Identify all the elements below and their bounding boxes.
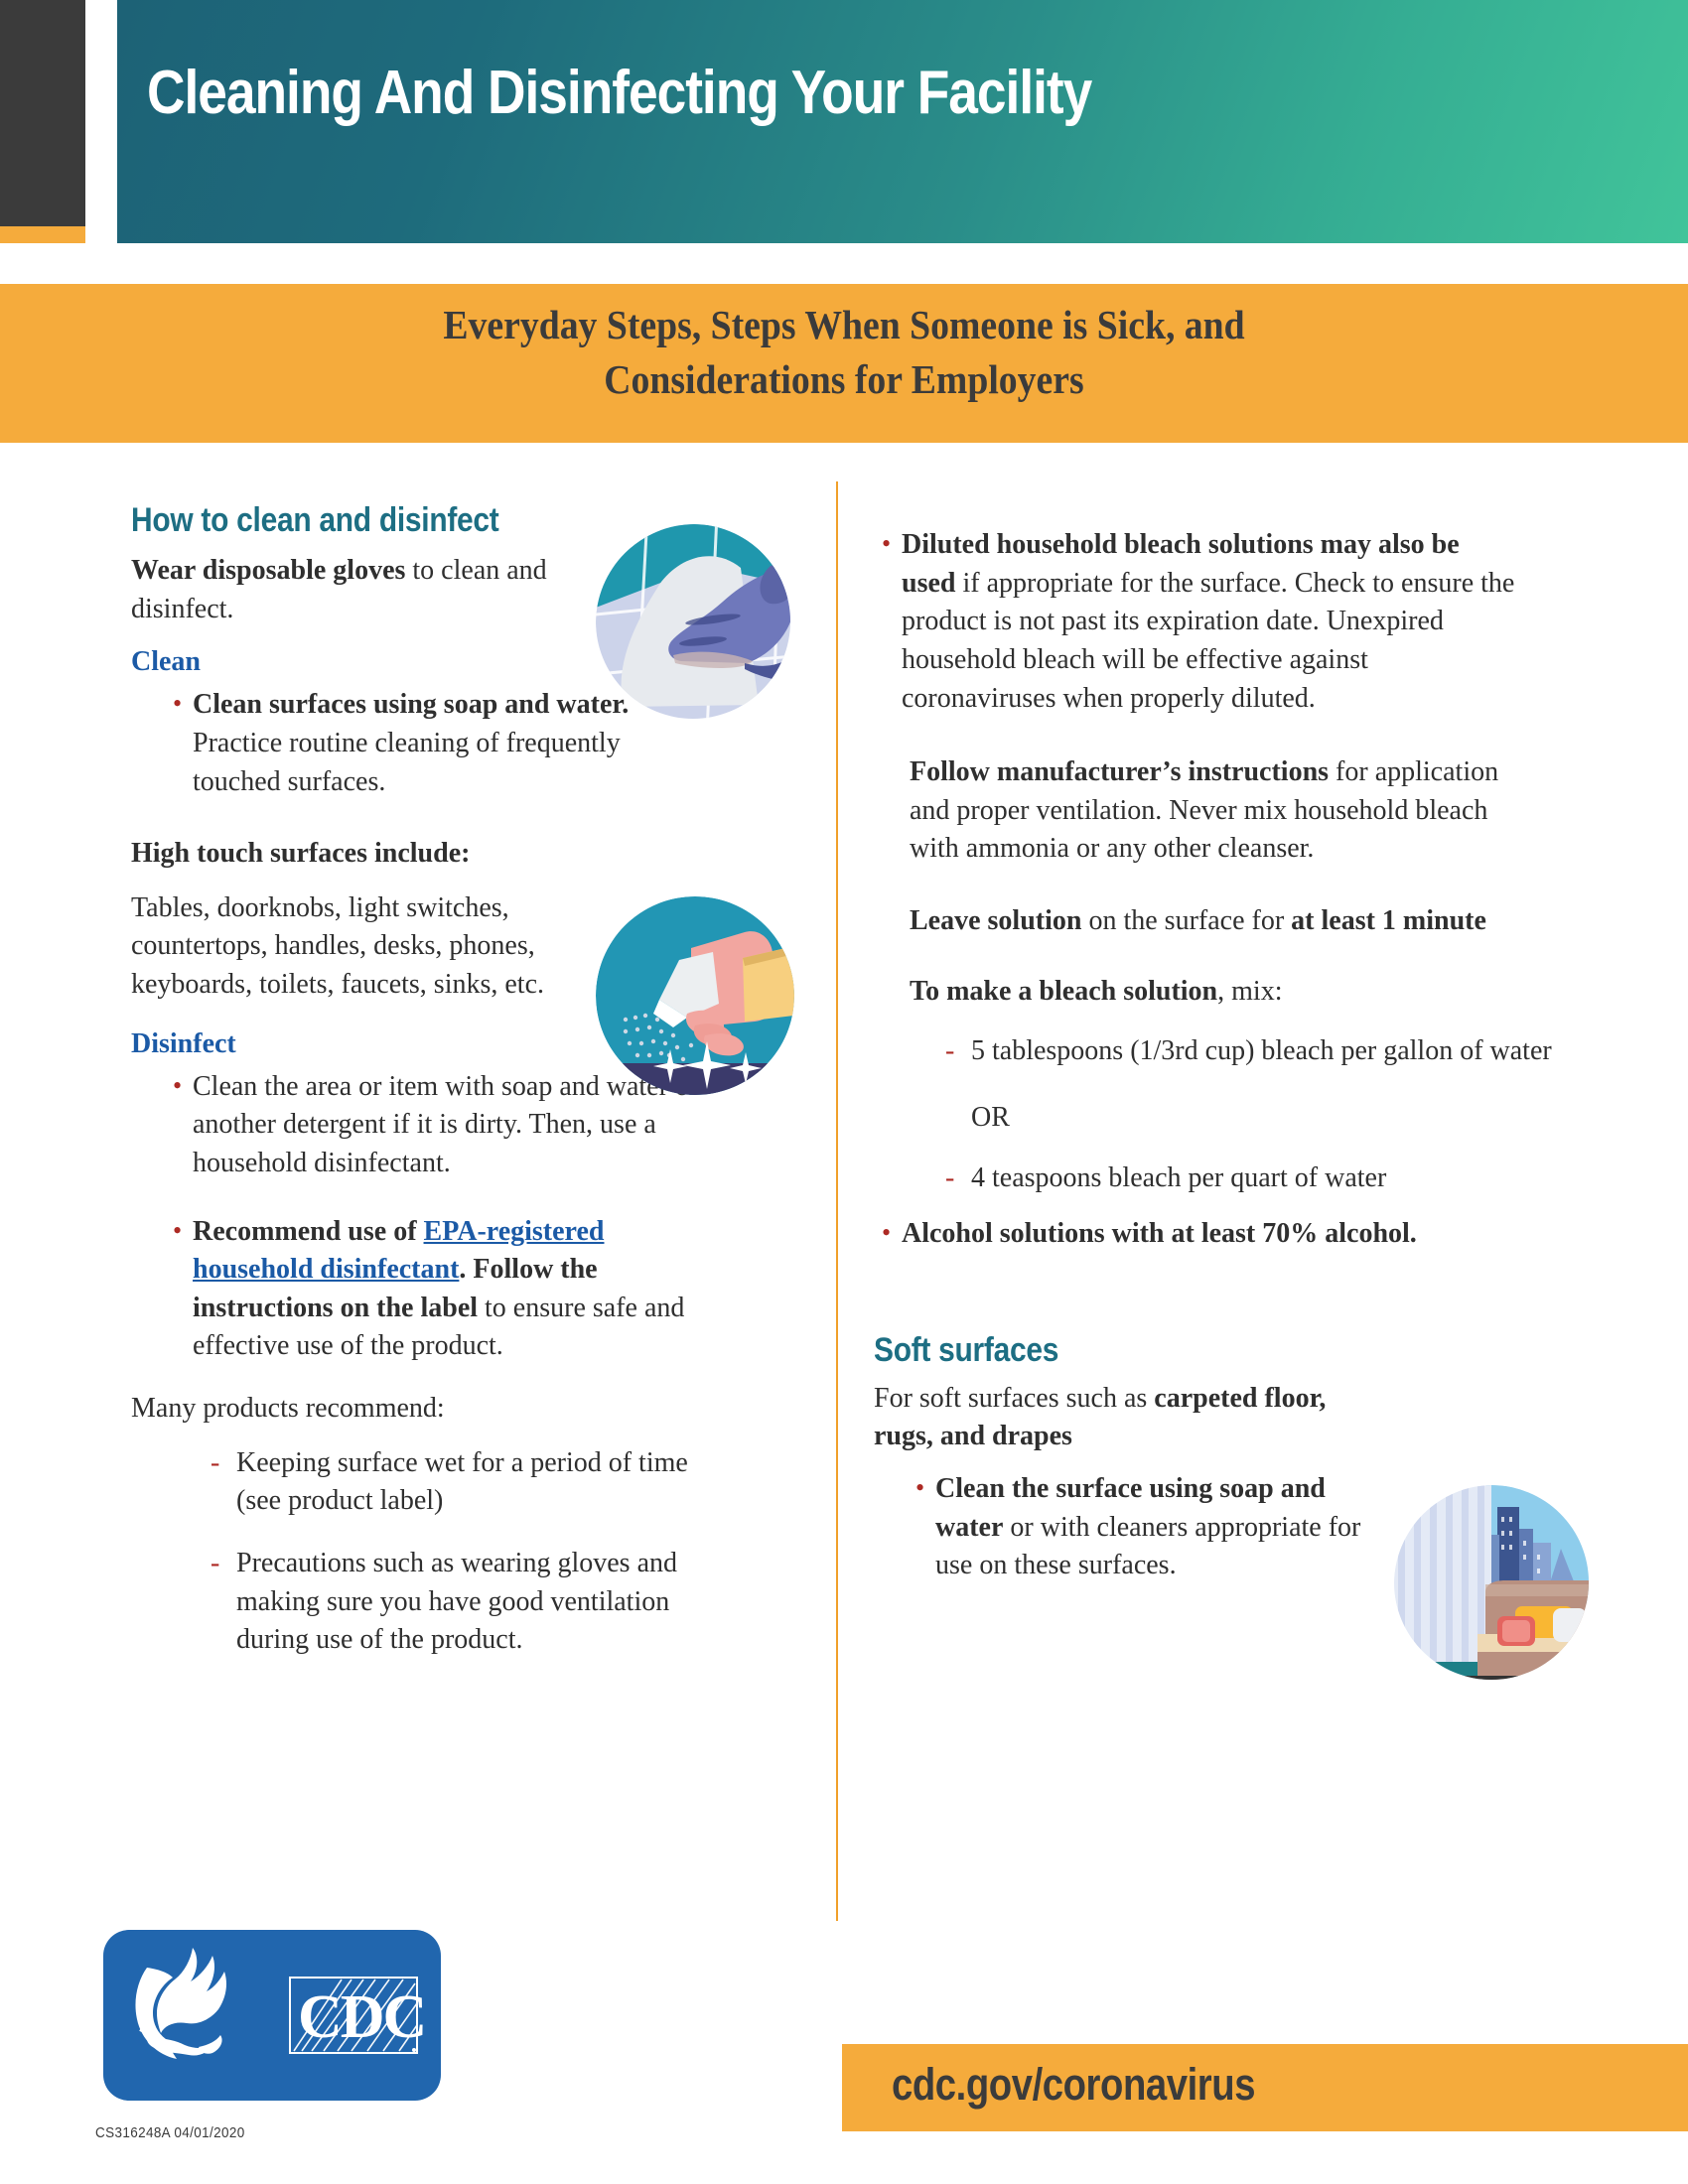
intro-paragraph: Wear disposable gloves to clean and disi… (131, 552, 558, 628)
bullet-alcohol-solutions: • Alcohol solutions with at least 70% al… (874, 1215, 1529, 1254)
many-products-lead: Many products recommend: (131, 1390, 806, 1429)
subtitle-line-1: Everyday Steps, Steps When Someone is Si… (250, 298, 1438, 352)
high-touch-surfaces-body: Tables, doorknobs, light switches, count… (131, 889, 558, 1005)
page-title: Cleaning And Disinfecting Your Facility (147, 58, 1342, 128)
leave-solution-bold-2: at least 1 minute (1291, 905, 1486, 936)
bullet-clean-surfaces-rest: Practice routine cleaning of frequently … (193, 728, 621, 797)
bullet-soft-surfaces-clean: • Clean the surface using soap and water… (908, 1470, 1374, 1585)
bullet-dot-icon: • (165, 1213, 193, 1367)
leave-solution-mid: on the surface for (1081, 905, 1291, 936)
make-solution-bold: To make a bleach solution (910, 976, 1217, 1007)
section-heading-how-to-clean: How to clean and disinfect (131, 501, 725, 540)
dash-marker-blank (945, 1099, 971, 1138)
bullet-clean-surfaces-text: Clean surfaces using soap and water. Pra… (193, 686, 641, 801)
dash-marker-icon: - (945, 1032, 971, 1071)
subtitle-line-2: Considerations for Employers (250, 352, 1438, 407)
bullet-dot-icon: • (908, 1470, 935, 1585)
section-heading-soft-surfaces: Soft surfaces (874, 1331, 1477, 1370)
bullet-dot-icon: • (874, 1215, 902, 1254)
bullet-clean-surfaces: • Clean surfaces using soap and water. P… (165, 686, 641, 801)
dash-marker-icon: - (945, 1160, 971, 1198)
bullet-clean-surfaces-bold: Clean surfaces using soap and water. (193, 689, 629, 720)
bullet-alcohol-solutions-text: Alcohol solutions with at least 70% alco… (902, 1215, 1529, 1254)
soft-surfaces-lead: For soft surfaces such as carpeted floor… (874, 1380, 1370, 1456)
leave-solution-bold-1: Leave solution (910, 905, 1081, 936)
recipe-or-separator: OR (945, 1099, 1581, 1138)
bullet-epa-recommend: • Recommend use of EPA-registered househ… (165, 1213, 721, 1367)
header-yellow-tab (0, 226, 85, 243)
cdc-wordmark-box: CDC (290, 1978, 425, 2053)
bullet-diluted-bleach-text: Diluted household bleach solutions may a… (902, 526, 1519, 718)
dash-recipe-gallon: - 5 tablespoons (1/3rd cup) bleach per g… (945, 1032, 1581, 1071)
dash-keeping-surface-wet: - Keeping surface wet for a period of ti… (211, 1444, 727, 1521)
manufacturer-bold: Follow manufacturer’s instructions (910, 756, 1329, 787)
dash-recipe-quart: - 4 teaspoons bleach per quart of water (945, 1160, 1581, 1198)
make-bleach-solution-paragraph: To make a bleach solution, mix: (910, 973, 1525, 1012)
leave-solution-paragraph: Leave solution on the surface for at lea… (910, 902, 1525, 941)
bullet-epa-text: Recommend use of EPA-registered househol… (193, 1213, 721, 1367)
make-solution-rest: , mix: (1217, 976, 1282, 1007)
recipe-or-text: OR (971, 1099, 1581, 1138)
header-dark-block (0, 0, 85, 226)
dash-precautions: - Precautions such as wearing gloves and… (211, 1545, 737, 1660)
cdc-hhs-logo: D E CDC (103, 1930, 441, 2101)
intro-bold: Wear disposable gloves (131, 555, 405, 586)
bullet-diluted-bleach: • Diluted household bleach solutions may… (874, 526, 1519, 718)
bullet-dot-icon: • (165, 1068, 193, 1183)
dash-keeping-surface-wet-text: Keeping surface wet for a period of time… (236, 1444, 727, 1521)
svg-text:CDC: CDC (298, 1983, 425, 2051)
diluted-bleach-rest: if appropriate for the surface. Check to… (902, 568, 1514, 714)
heading-high-touch-surfaces: High touch surfaces include: (131, 835, 806, 874)
cdc-coronavirus-url[interactable]: cdc.gov/coronavirus (892, 2059, 1255, 2111)
right-column: • Diluted household bleach solutions may… (874, 526, 1559, 1603)
dash-marker-icon: - (211, 1444, 236, 1521)
dash-recipe-gallon-text: 5 tablespoons (1/3rd cup) bleach per gal… (971, 1032, 1581, 1071)
curtains-and-sofa-illustration (1394, 1485, 1589, 1680)
bullet-soft-surfaces-text: Clean the surface using soap and water o… (935, 1470, 1374, 1585)
bullet-dot-icon: • (165, 686, 193, 801)
page-header: Cleaning And Disinfecting Your Facility (0, 0, 1688, 243)
hand-spraying-disinfectant-illustration (596, 896, 794, 1095)
dash-recipe-quart-text: 4 teaspoons bleach per quart of water (971, 1160, 1581, 1198)
column-divider (836, 481, 838, 1921)
cs-number-footnote: CS316248A 04/01/2020 (95, 2124, 245, 2141)
dash-precautions-text: Precautions such as wearing gloves and m… (236, 1545, 737, 1660)
hhs-seal-icon (135, 1948, 226, 2059)
soft-surfaces-lead-text: For soft surfaces such as (874, 1383, 1154, 1414)
subtitle-text: Everyday Steps, Steps When Someone is Si… (250, 298, 1438, 408)
epa-lead-bold: Recommend use of (193, 1216, 424, 1247)
bullet-dot-icon: • (874, 526, 902, 718)
dash-marker-icon: - (211, 1545, 236, 1660)
gloved-hand-wiping-surface-illustration (596, 524, 790, 719)
manufacturer-instructions-paragraph: Follow manufacturer’s instructions for a… (910, 753, 1525, 869)
bullet-clean-area-text: Clean the area or item with soap and wat… (193, 1068, 721, 1183)
bullet-clean-area-first: • Clean the area or item with soap and w… (165, 1068, 721, 1183)
